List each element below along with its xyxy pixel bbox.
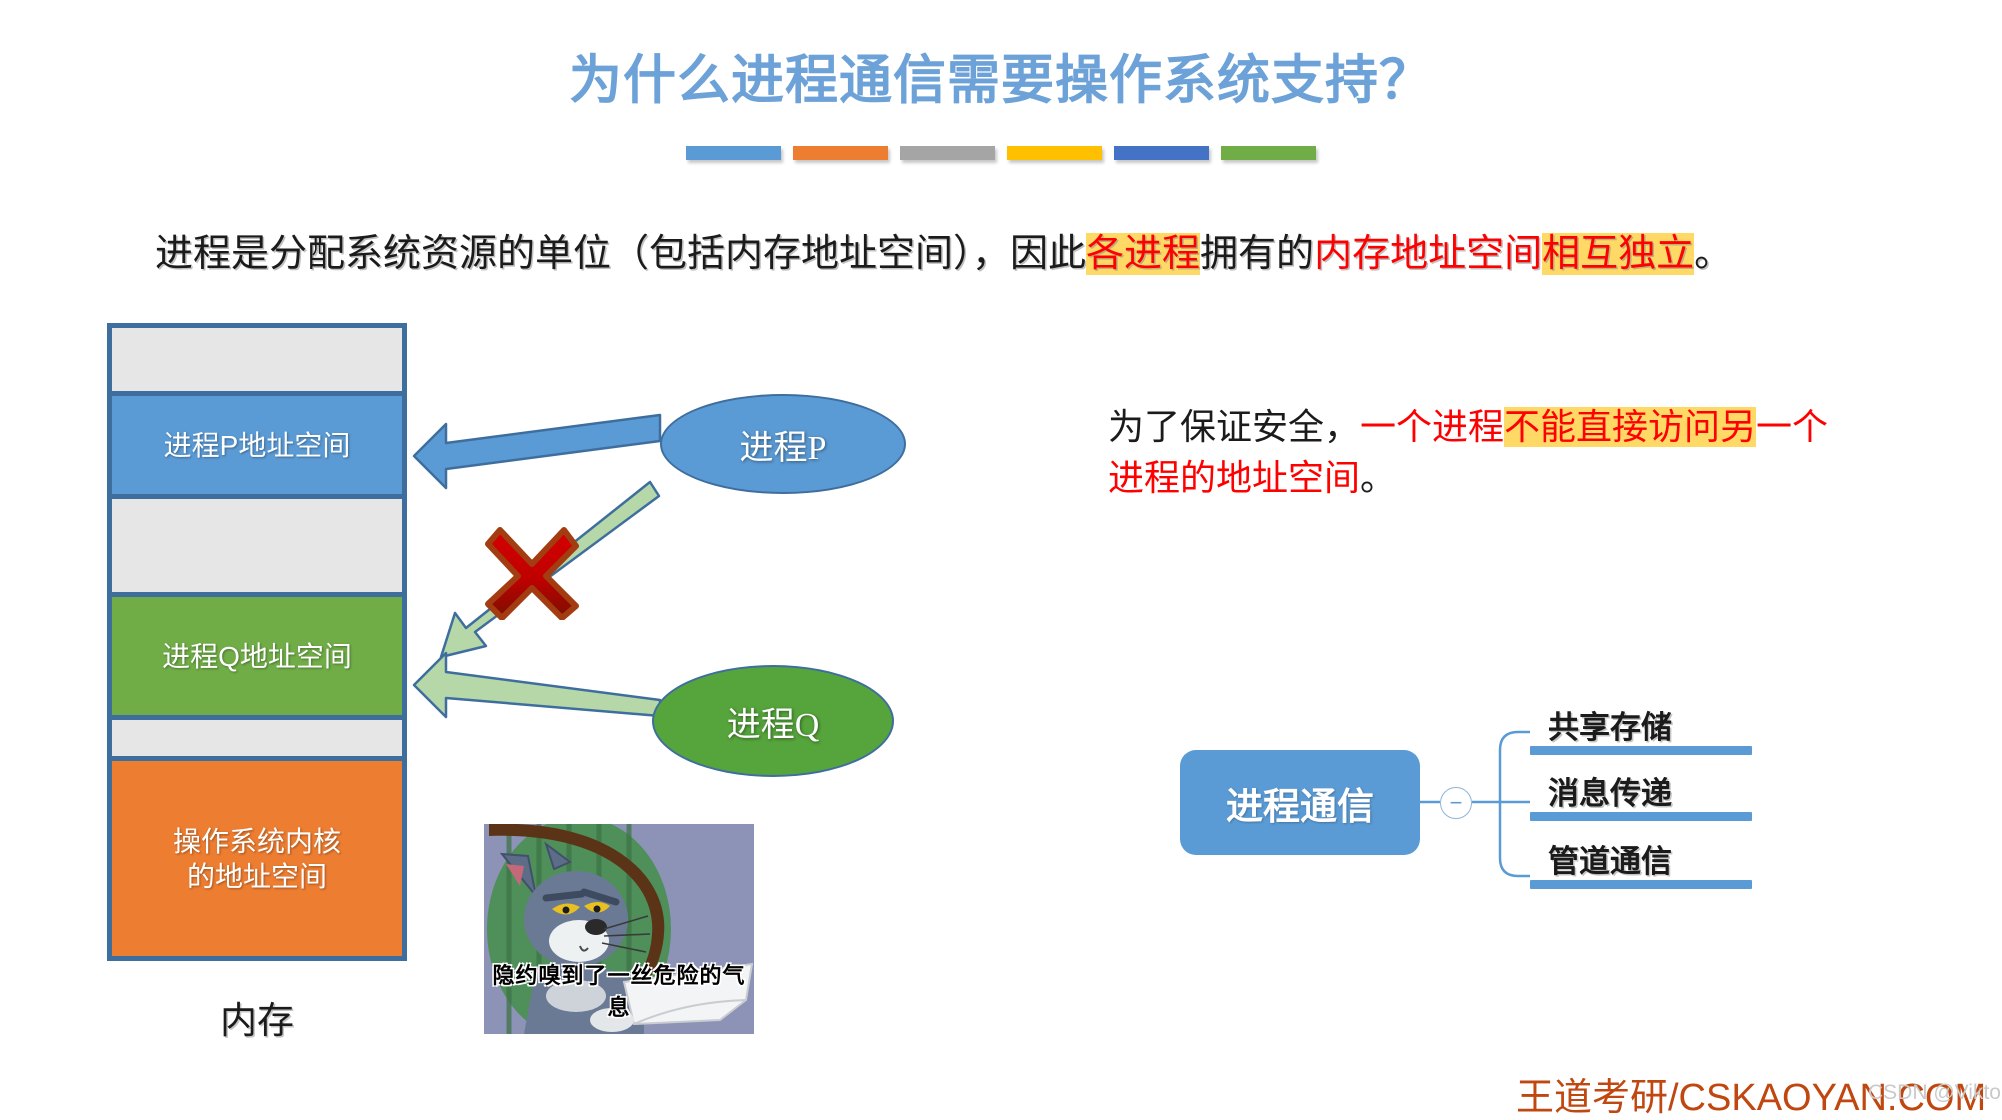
statement-segment-plain-1: 进程是分配系统资源的单位（包括内存地址空间）， bbox=[155, 233, 1010, 275]
process-p-node[interactable]: 进程P bbox=[660, 394, 906, 494]
arrow-p-to-p-space bbox=[414, 415, 660, 488]
explanation-segment-plain-1: 为了保证安全， bbox=[1108, 407, 1360, 447]
mindmap-root-node[interactable]: 进程通信 bbox=[1180, 750, 1420, 855]
memory-block-process-q: 进程Q地址空间 bbox=[112, 597, 402, 715]
process-p-label: 进程P bbox=[740, 420, 827, 469]
statement-segment-plain-3: 拥有的 bbox=[1200, 233, 1314, 275]
statement-segment-plain-2: 因此 bbox=[1010, 233, 1086, 275]
red-x-marker-wrapper bbox=[484, 524, 580, 620]
accent-bar-green bbox=[1221, 146, 1316, 160]
mindmap-root-label: 进程通信 bbox=[1226, 776, 1374, 830]
meme-caption: 隐约嗅到了一丝危险的气息 bbox=[484, 958, 754, 1022]
page-title: 为什么进程通信需要操作系统支持？ bbox=[0, 38, 2002, 114]
arrow-q-to-q-space bbox=[414, 653, 660, 717]
memory-block-label-p: 进程P地址空间 bbox=[164, 428, 351, 463]
tom-cat-meme-image: 隐约嗅到了一丝危险的气息 bbox=[484, 824, 754, 1034]
statement-segment-highlight-1: 各进程 bbox=[1086, 233, 1200, 275]
process-q-node[interactable]: 进程Q bbox=[652, 665, 894, 777]
memory-block-free-lower bbox=[112, 720, 402, 756]
csdn-watermark: CSDN @Viktoriae bbox=[1868, 1081, 2002, 1105]
memory-block-label-q: 进程Q地址空间 bbox=[162, 639, 352, 674]
memory-diagram-caption: 内存 bbox=[107, 990, 407, 1044]
memory-block-label-kernel-line2: 的地址空间 bbox=[173, 859, 341, 894]
memory-diagram: 进程P地址空间 进程Q地址空间 操作系统内核 的地址空间 bbox=[107, 323, 407, 961]
memory-block-os-kernel: 操作系统内核 的地址空间 bbox=[112, 761, 402, 956]
mindmap-leaf-label-message-passing[interactable]: 消息传递 bbox=[1548, 768, 1672, 813]
main-statement: 进程是分配系统资源的单位（包括内存地址空间），因此各进程拥有的内存地址空间相互独… bbox=[155, 222, 1732, 277]
mindmap-leaf-label-shared-storage[interactable]: 共享存储 bbox=[1548, 702, 1672, 747]
mindmap-leaf-bar-pipe bbox=[1530, 880, 1752, 889]
memory-block-process-p: 进程P地址空间 bbox=[112, 396, 402, 494]
accent-bar-gray bbox=[900, 146, 995, 160]
red-x-marker bbox=[488, 530, 576, 618]
accent-bar-blue bbox=[686, 146, 781, 160]
mindmap-collapse-toggle[interactable]: − bbox=[1440, 787, 1472, 819]
explanation-segment-plain-2: 。 bbox=[1360, 458, 1396, 498]
accent-bar-group bbox=[686, 146, 1316, 162]
accent-bar-orange bbox=[793, 146, 888, 160]
memory-block-free-middle bbox=[112, 499, 402, 592]
ipc-mindmap: 进程通信 − 共享存储 消息传递 管道通信 bbox=[1150, 640, 1770, 910]
mindmap-leaf-bar-shared-storage bbox=[1530, 746, 1752, 755]
statement-segment-red-1: 内存地址空间 bbox=[1314, 233, 1542, 275]
statement-segment-plain-4: 。 bbox=[1694, 233, 1732, 275]
memory-block-label-kernel-line1: 操作系统内核 bbox=[173, 824, 341, 859]
explanation-segment-highlight: 不能直接访问另 bbox=[1504, 407, 1756, 447]
security-explanation: 为了保证安全，一个进程不能直接访问另一个进程的地址空间。 bbox=[1108, 402, 1838, 504]
slide-canvas: 为什么进程通信需要操作系统支持？ 进程是分配系统资源的单位（包括内存地址空间），… bbox=[0, 0, 2002, 1120]
statement-segment-highlight-2: 相互独立 bbox=[1542, 233, 1694, 275]
accent-bar-yellow bbox=[1007, 146, 1102, 160]
memory-block-free-top bbox=[112, 328, 402, 391]
mindmap-leaf-bar-message-passing bbox=[1530, 812, 1752, 821]
explanation-segment-red-1: 一个进程 bbox=[1360, 407, 1504, 447]
process-q-label: 进程Q bbox=[727, 697, 820, 746]
accent-bar-darkblue bbox=[1114, 146, 1209, 160]
mindmap-collapse-symbol: − bbox=[1450, 792, 1463, 814]
mindmap-leaf-label-pipe[interactable]: 管道通信 bbox=[1548, 836, 1672, 881]
